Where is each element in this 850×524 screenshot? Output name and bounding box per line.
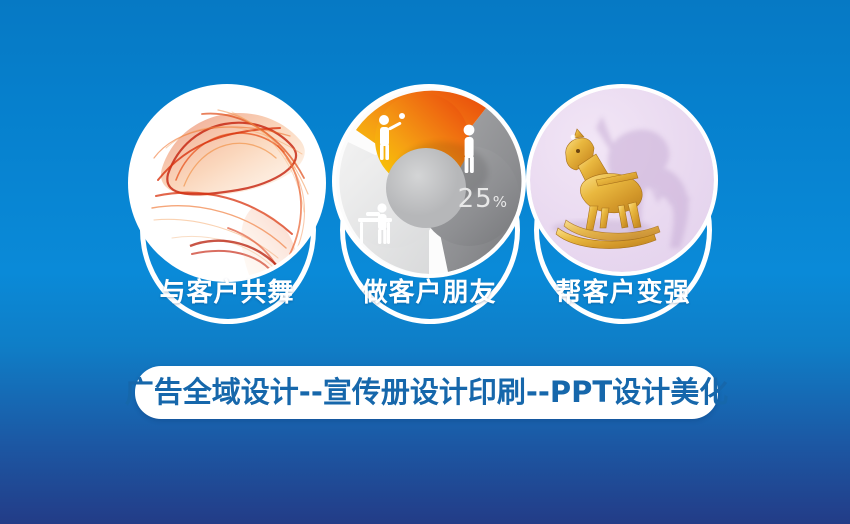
orange-smoke-swirl-icon (132, 88, 322, 278)
sparkle-icon (571, 135, 576, 140)
horse-eye-icon (576, 149, 580, 153)
feature-image-disc (530, 88, 714, 272)
feature-label: 与客户共舞 (132, 278, 322, 308)
smoke-swirl-svg (132, 88, 322, 278)
stat-25-percent: 25% (458, 184, 508, 214)
feature-dance-with-customer[interactable]: 与客户共舞 (132, 88, 322, 338)
infographic-svg (336, 88, 522, 274)
feature-friend-of-customer[interactable]: 25% 做客户朋友 (334, 88, 524, 338)
feature-make-customer-stronger[interactable]: 帮客户变强 (528, 88, 718, 338)
tagline-banner[interactable]: 广告全域设计--宣传册设计印刷--PPT设计美化 (135, 366, 718, 419)
feature-label: 帮客户变强 (528, 278, 718, 308)
rocking-horse-svg (530, 88, 714, 272)
stat-value: 25 (458, 184, 493, 214)
poster-canvas: 与客户共舞 (0, 0, 850, 524)
feature-image-disc: 25% (336, 88, 522, 274)
stat-unit: % (493, 193, 508, 211)
pie-infographic-icon: 25% (336, 88, 522, 274)
feature-image-disc (132, 88, 322, 278)
golden-rocking-horse-icon (530, 88, 714, 272)
feature-label: 做客户朋友 (334, 278, 524, 308)
feature-circle-group: 与客户共舞 (0, 88, 850, 338)
tagline-text: 广告全域设计--宣传册设计印刷--PPT设计美化 (125, 378, 728, 407)
